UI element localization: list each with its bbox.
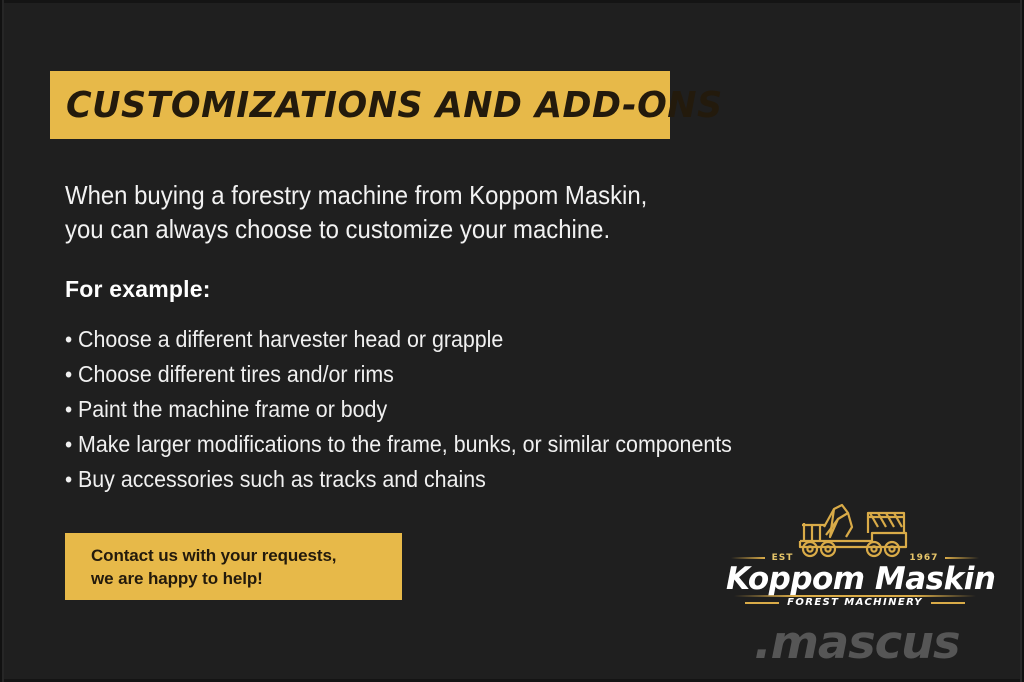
bullet-dot-icon: •	[65, 323, 78, 357]
list-item-label: Make larger modifications to the frame, …	[78, 431, 732, 457]
contact-callout-box[interactable]: Contact us with your requests, we are ha…	[65, 533, 402, 600]
list-item: •Choose different tires and/or rims	[65, 357, 809, 392]
contact-line-1: Contact us with your requests,	[91, 544, 402, 567]
bullet-dot-icon: •	[65, 428, 78, 462]
list-item: •Paint the machine frame or body	[65, 392, 809, 427]
list-item: •Buy accessories such as tracks and chai…	[65, 462, 809, 497]
forwarder-machine-icon	[786, 497, 926, 559]
page-title: CUSTOMIZATIONS AND ADD-ONS	[66, 85, 723, 126]
frame-edge-right	[1020, 0, 1024, 682]
advertisement-slide: CUSTOMIZATIONS AND ADD-ONS When buying a…	[0, 0, 1024, 682]
list-item-label: Paint the machine frame or body	[78, 396, 387, 422]
frame-edge-left	[0, 0, 4, 682]
frame-edge-top	[0, 0, 1024, 3]
list-item: •Make larger modifications to the frame,…	[65, 427, 809, 462]
logo-wordmark: Koppom Maskin	[726, 561, 984, 597]
logo-rule-left	[731, 557, 765, 559]
customization-options-list: •Choose a different harvester head or gr…	[65, 322, 865, 497]
intro-line-1: When buying a forestry machine from Kopp…	[65, 178, 727, 212]
mascus-watermark: .mascus	[754, 616, 960, 669]
intro-paragraph: When buying a forestry machine from Kopp…	[65, 178, 727, 246]
intro-line-2: you can always choose to customize your …	[65, 212, 727, 246]
header-banner: CUSTOMIZATIONS AND ADD-ONS	[50, 71, 670, 139]
contact-line-2: we are happy to help!	[91, 567, 402, 590]
logo-rule-right	[945, 557, 979, 559]
list-item-label: Choose different tires and/or rims	[78, 361, 394, 387]
bullet-dot-icon: •	[65, 358, 78, 392]
logo-tagline-row: FOREST MACHINERY	[726, 597, 984, 608]
logo-tagline: FOREST MACHINERY	[787, 597, 923, 608]
list-item-label: Choose a different harvester head or gra…	[78, 326, 503, 352]
for-example-label: For example:	[65, 276, 211, 303]
list-item-label: Buy accessories such as tracks and chain…	[78, 466, 486, 492]
koppom-maskin-logo: EST 1967 Koppom Maskin FOREST MACHINERY	[726, 497, 984, 612]
logo-tagline-rule-right	[931, 602, 965, 604]
bullet-dot-icon: •	[65, 393, 78, 427]
bullet-dot-icon: •	[65, 463, 78, 497]
list-item: •Choose a different harvester head or gr…	[65, 322, 809, 357]
logo-tagline-rule-left	[745, 602, 779, 604]
